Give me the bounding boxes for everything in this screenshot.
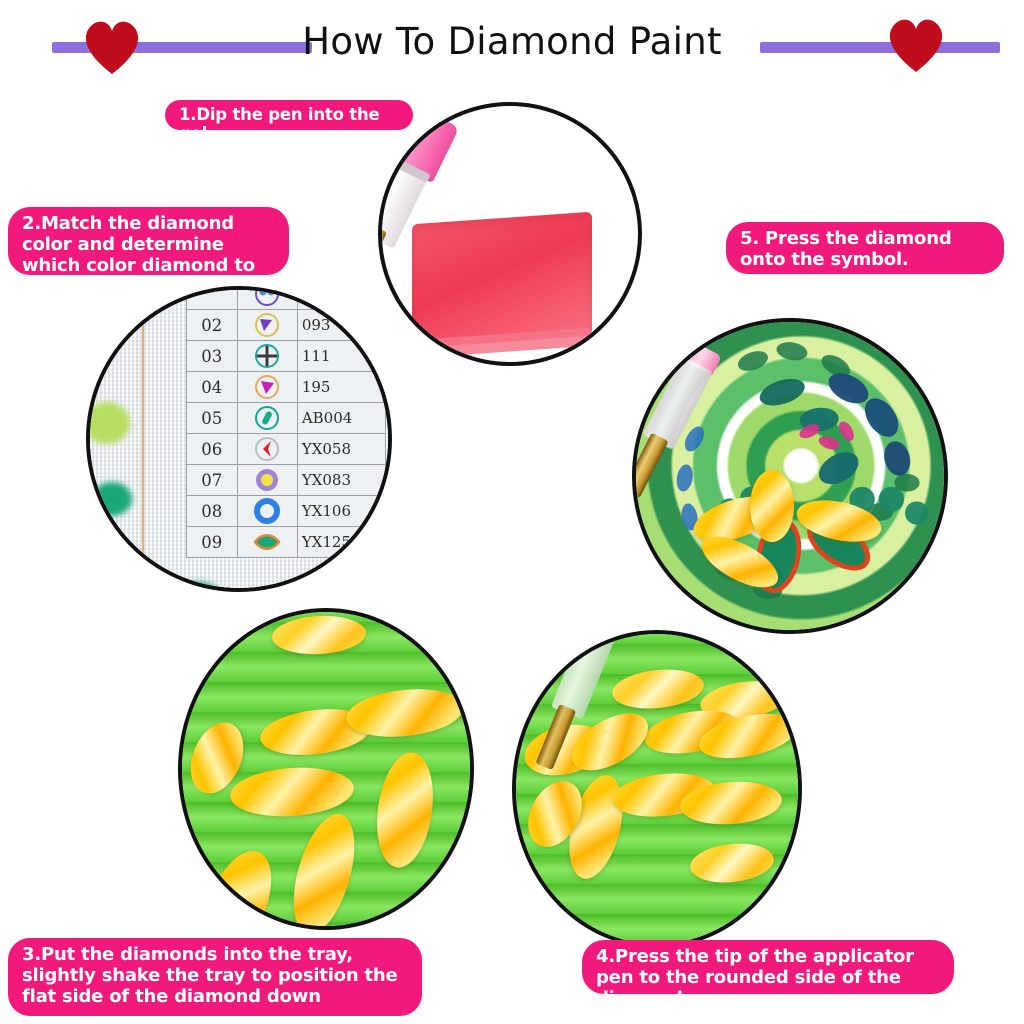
step-3-label: 3.Put the diamonds into the tray, slight… <box>8 938 422 1016</box>
table-row: 08 YX106 <box>187 496 386 527</box>
legend-number: 05 <box>187 403 238 434</box>
step-4-label: 4.Press the tip of the applicator pen to… <box>582 940 954 994</box>
legend-code: YX106 <box>297 496 385 527</box>
table-row: 07 YX083 <box>187 465 386 496</box>
legend-code: YX125 <box>297 527 385 558</box>
table-row: 06 YX058 <box>187 434 386 465</box>
pen-tip <box>378 224 387 268</box>
photo-step-2-legend: 026 02 093 03 111 04 <box>86 286 392 592</box>
legend-number: 07 <box>187 465 238 496</box>
pen-tip <box>536 704 577 770</box>
photo-step-1-pen-dip <box>378 102 642 366</box>
legend-code: 195 <box>297 372 385 403</box>
double-dot-circle-icon <box>237 286 297 310</box>
legend-body: 026 02 093 03 111 04 <box>187 286 386 558</box>
left-arrow-circle-icon <box>237 434 297 465</box>
table-row: 05 AB004 <box>187 403 386 434</box>
symbol-legend-table: 026 02 093 03 111 04 <box>186 286 386 558</box>
plus-circle-icon <box>237 341 297 372</box>
legend-number: 03 <box>187 341 238 372</box>
legend-number: 04 <box>187 372 238 403</box>
dot-in-ring-circle-icon <box>237 465 297 496</box>
diamond-gem-target <box>750 470 794 542</box>
step-1-label: 1.Dip the pen into the gel <box>165 100 413 130</box>
poster-canvas: How To Diamond Paint 026 <box>0 0 1024 1024</box>
step-5-label: 5. Press the diamond onto the symbol. <box>726 222 1004 274</box>
table-row: 02 093 <box>187 310 386 341</box>
legend-number: 02 <box>187 310 238 341</box>
legend-number: 06 <box>187 434 238 465</box>
legend-code: YX083 <box>297 465 385 496</box>
photo-step-5-press-onto-symbol <box>632 318 948 634</box>
canvas-border-line <box>142 290 144 588</box>
legend-code: YX058 <box>297 434 385 465</box>
thick-ring-circle-icon <box>237 496 297 527</box>
photo-step-3-diamond-tray <box>178 608 474 930</box>
legend-number: 08 <box>187 496 238 527</box>
canvas-smudge <box>92 482 132 516</box>
page-title: How To Diamond Paint <box>0 20 1024 63</box>
triangle-down-circle-icon <box>237 372 297 403</box>
legend-code: 093 <box>297 310 385 341</box>
table-row: 04 195 <box>187 372 386 403</box>
legend-number: 09 <box>187 527 238 558</box>
legend-code: 026 <box>297 286 385 310</box>
table-row: 03 111 <box>187 341 386 372</box>
slash-oval-circle-icon <box>237 403 297 434</box>
step-2-label: 2.Match the diamond color and determine … <box>8 207 289 275</box>
legend-number <box>187 286 238 310</box>
table-row: 026 <box>187 286 386 310</box>
legend-code: 111 <box>297 341 385 372</box>
table-row: 09 YX125 <box>187 527 386 558</box>
gel-pad <box>412 212 592 349</box>
canvas-smudge <box>86 402 130 444</box>
photo-step-4-pick-up-diamond <box>512 630 802 948</box>
triangle-circle-icon <box>237 310 297 341</box>
leaf-circle-icon <box>237 527 297 558</box>
legend-code: AB004 <box>297 403 385 434</box>
